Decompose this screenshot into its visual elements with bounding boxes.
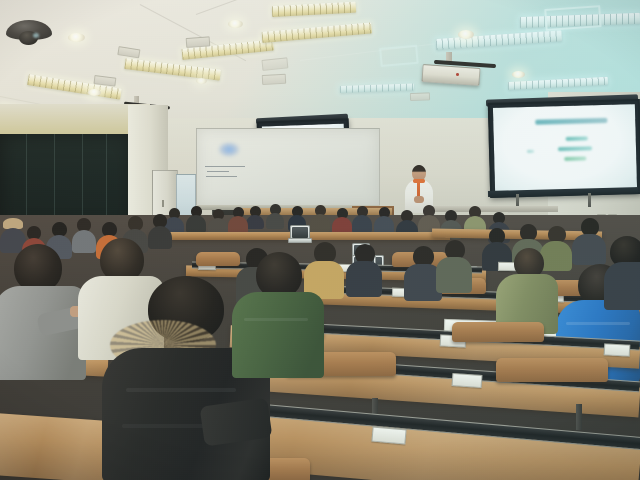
audience-member: [352, 206, 372, 232]
audience-member-green-jacket: [232, 252, 324, 376]
presenter-collar: [413, 179, 425, 183]
ceiling-vent: [544, 5, 601, 31]
projection-screen-right: [488, 99, 640, 198]
recessed-downlight: [68, 33, 85, 42]
audience-member: [266, 204, 284, 228]
desk-leg: [576, 404, 582, 430]
cabinet-handle: [162, 200, 164, 207]
ceiling-vent: [410, 92, 430, 101]
audience-member: [374, 207, 394, 233]
audience-member: [572, 218, 606, 264]
screen-support-leg: [588, 193, 591, 207]
whiteboard-writing: [205, 166, 251, 182]
audience-member-grey-sweater: [0, 244, 86, 394]
audience-member: [332, 208, 352, 234]
desk-number-plate: [371, 427, 406, 445]
projector-glare-spot: [218, 142, 240, 157]
recessed-downlight: [228, 20, 243, 28]
recessed-downlight: [88, 89, 101, 96]
recessed-downlight: [512, 71, 525, 78]
audience-member: [228, 207, 248, 233]
ceiling-projector-right: [418, 52, 510, 86]
audience-member: [436, 240, 472, 292]
audience-member: [186, 206, 206, 232]
desk-number-plate: [604, 343, 631, 356]
desk-number-plate: [452, 373, 483, 388]
seat-back: [452, 322, 544, 342]
ceiling-vent: [262, 74, 286, 85]
audience-member: [310, 205, 330, 231]
presenter-hands: [414, 196, 424, 203]
slide-text-line: [566, 136, 588, 141]
audience-member: [604, 236, 640, 306]
seat-back: [496, 358, 608, 382]
recessed-downlight: [196, 78, 207, 84]
lecture-hall-photo: University lecture hall during a present…: [0, 0, 640, 480]
audience-member: [246, 206, 264, 228]
jacket-body: [232, 292, 324, 378]
slide-text-line: [527, 150, 534, 153]
recessed-downlight: [458, 30, 474, 39]
ceiling-vent: [379, 45, 419, 67]
audience-member: [346, 244, 382, 296]
ceiling-vent: [186, 36, 211, 48]
security-camera-icon: [6, 20, 52, 50]
audience-member-olive-coat: [496, 248, 558, 332]
slide-text-line: [564, 156, 586, 161]
